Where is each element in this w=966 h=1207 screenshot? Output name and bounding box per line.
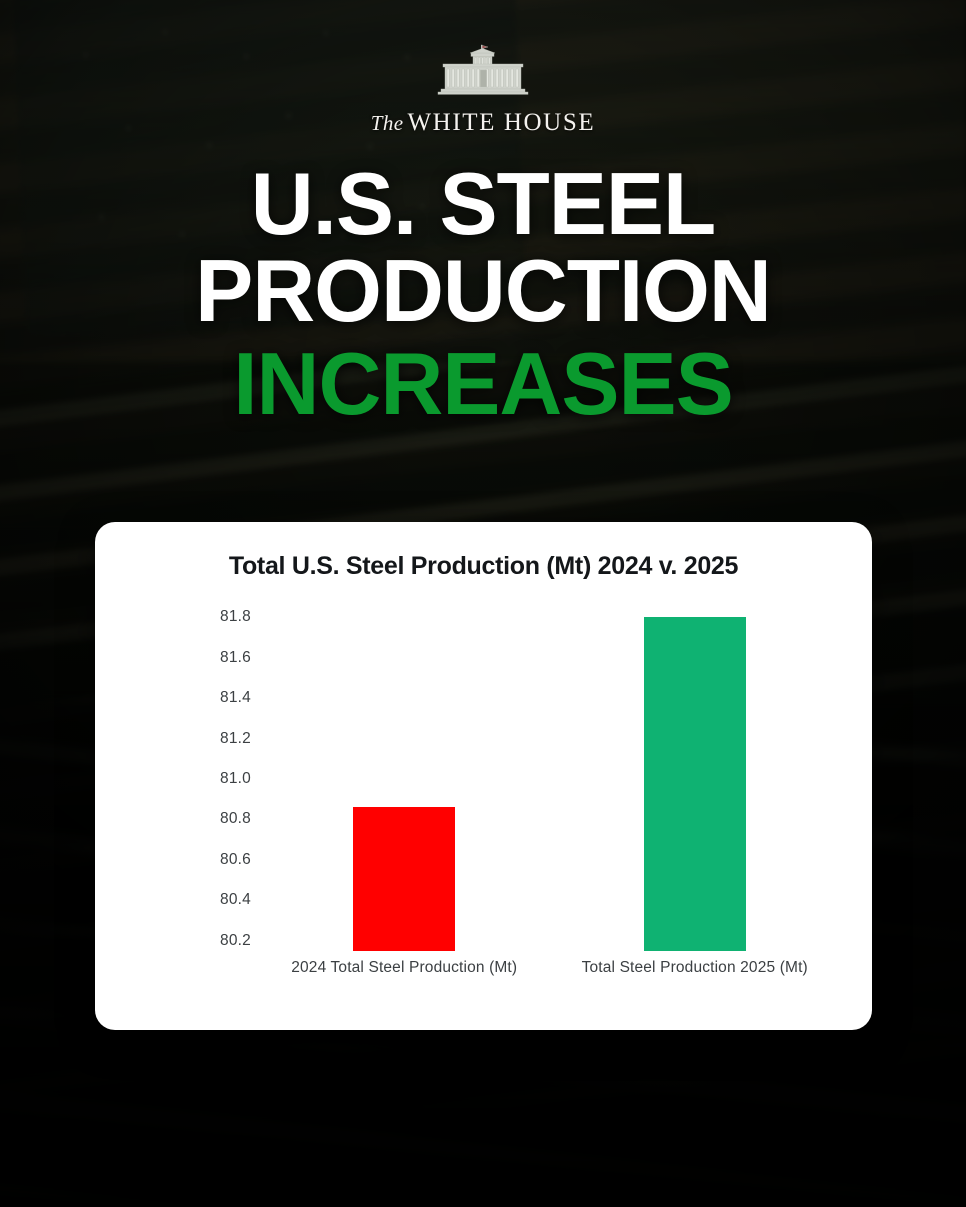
headline-line-1: U.S. STEEL <box>5 160 961 247</box>
brand-header: TheWHITE HOUSE <box>0 0 966 137</box>
wordmark-name: WHITE HOUSE <box>407 109 595 136</box>
y-axis-tick: 81.6 <box>220 649 251 667</box>
headline-line-3-accent: INCREASES <box>5 340 961 427</box>
y-axis-tick: 81.8 <box>220 608 251 626</box>
y-axis-tick: 80.6 <box>220 851 251 869</box>
y-axis-tick: 80.4 <box>220 891 251 909</box>
page-title: U.S. STEEL PRODUCTION INCREASES <box>0 160 966 427</box>
bar-series <box>259 607 840 951</box>
white-house-wordmark: TheWHITE HOUSE <box>0 109 966 137</box>
bar-2024 <box>353 807 455 951</box>
white-house-building-icon <box>435 44 531 101</box>
x-axis-label: Total Steel Production 2025 (Mt) <box>550 959 841 977</box>
white-house-logo <box>0 44 966 101</box>
y-axis-tick: 80.2 <box>220 932 251 950</box>
y-axis-tick: 81.2 <box>220 730 251 748</box>
x-axis-category-labels: 2024 Total Steel Production (Mt)Total St… <box>259 959 840 977</box>
chart-title: Total U.S. Steel Production (Mt) 2024 v.… <box>95 552 872 581</box>
y-axis-tick-labels: 81.881.681.481.281.080.880.680.480.2 <box>119 607 251 951</box>
headline-line-2: PRODUCTION <box>5 247 961 334</box>
bar-chart-plot: 81.881.681.481.281.080.880.680.480.2 202… <box>119 607 848 951</box>
x-axis-label: 2024 Total Steel Production (Mt) <box>259 959 550 977</box>
bar-2025 <box>644 617 746 951</box>
wordmark-the: The <box>371 111 408 135</box>
chart-card: Total U.S. Steel Production (Mt) 2024 v.… <box>95 522 872 1030</box>
y-axis-tick: 81.4 <box>220 689 251 707</box>
y-axis-tick: 80.8 <box>220 810 251 828</box>
y-axis-tick: 81.0 <box>220 770 251 788</box>
